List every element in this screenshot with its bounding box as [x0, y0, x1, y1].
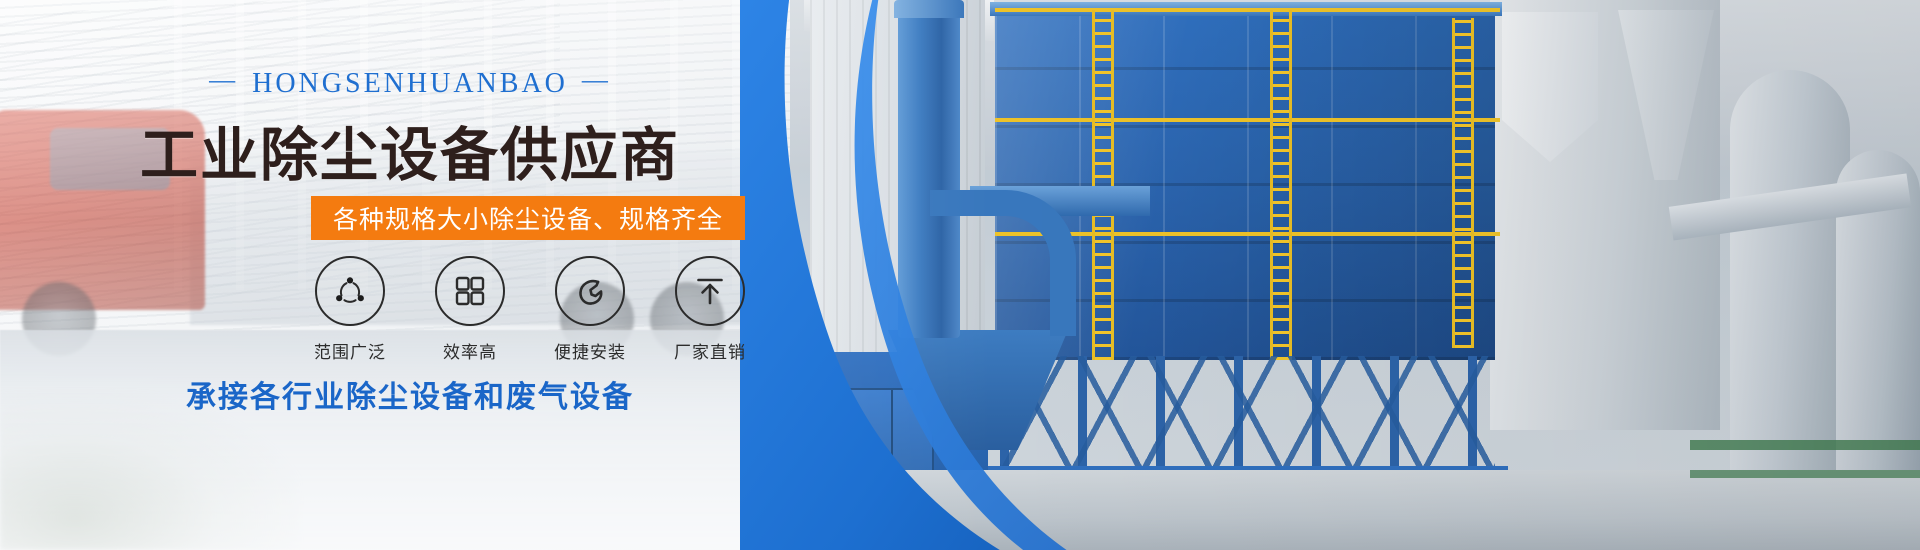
feature-item-direct-sale[interactable]: 厂家直销: [660, 256, 760, 363]
feature-icon-circle: [435, 256, 505, 326]
banner-content: —HONGSENHUANBAO— 工业除尘设备供应商 各种规格大小除尘设备、规格…: [0, 0, 820, 550]
feature-label: 便捷安装: [540, 338, 640, 363]
right-background-photo: [790, 0, 1920, 550]
photo-shading-overlay: [790, 0, 1920, 550]
tagline-text: 承接各行业除尘设备和废气设备: [0, 372, 820, 416]
four-squares-grid-icon: [453, 274, 487, 308]
wrench-circular-arrow-icon: [572, 273, 608, 309]
hero-banner: —HONGSENHUANBAO— 工业除尘设备供应商 各种规格大小除尘设备、规格…: [0, 0, 1920, 550]
feature-label: 效率高: [420, 338, 520, 363]
eyebrow-label: HONGSENHUANBAO: [252, 68, 568, 99]
feature-item-range[interactable]: 范围广泛: [300, 256, 400, 363]
feature-label: 厂家直销: [660, 338, 760, 363]
network-nodes-icon: [332, 273, 368, 309]
eyebrow-dash-right: —: [568, 65, 625, 95]
subtitle-orange-bar: 各种规格大小除尘设备、规格齐全: [311, 196, 745, 240]
feature-item-efficiency[interactable]: 效率高: [420, 256, 520, 363]
eyebrow-dash-left: —: [195, 65, 252, 95]
upload-arrow-line-icon: [693, 274, 727, 308]
feature-label: 范围广泛: [300, 338, 400, 363]
feature-list: 范围广泛 效率高: [300, 256, 760, 363]
eyebrow-text: —HONGSENHUANBAO—: [0, 68, 820, 100]
page-title: 工业除尘设备供应商: [0, 108, 820, 192]
feature-icon-circle: [675, 256, 745, 326]
feature-icon-circle: [555, 256, 625, 326]
subtitle-text: 各种规格大小除尘设备、规格齐全: [333, 200, 723, 236]
feature-icon-circle: [315, 256, 385, 326]
feature-item-installation[interactable]: 便捷安装: [540, 256, 640, 363]
